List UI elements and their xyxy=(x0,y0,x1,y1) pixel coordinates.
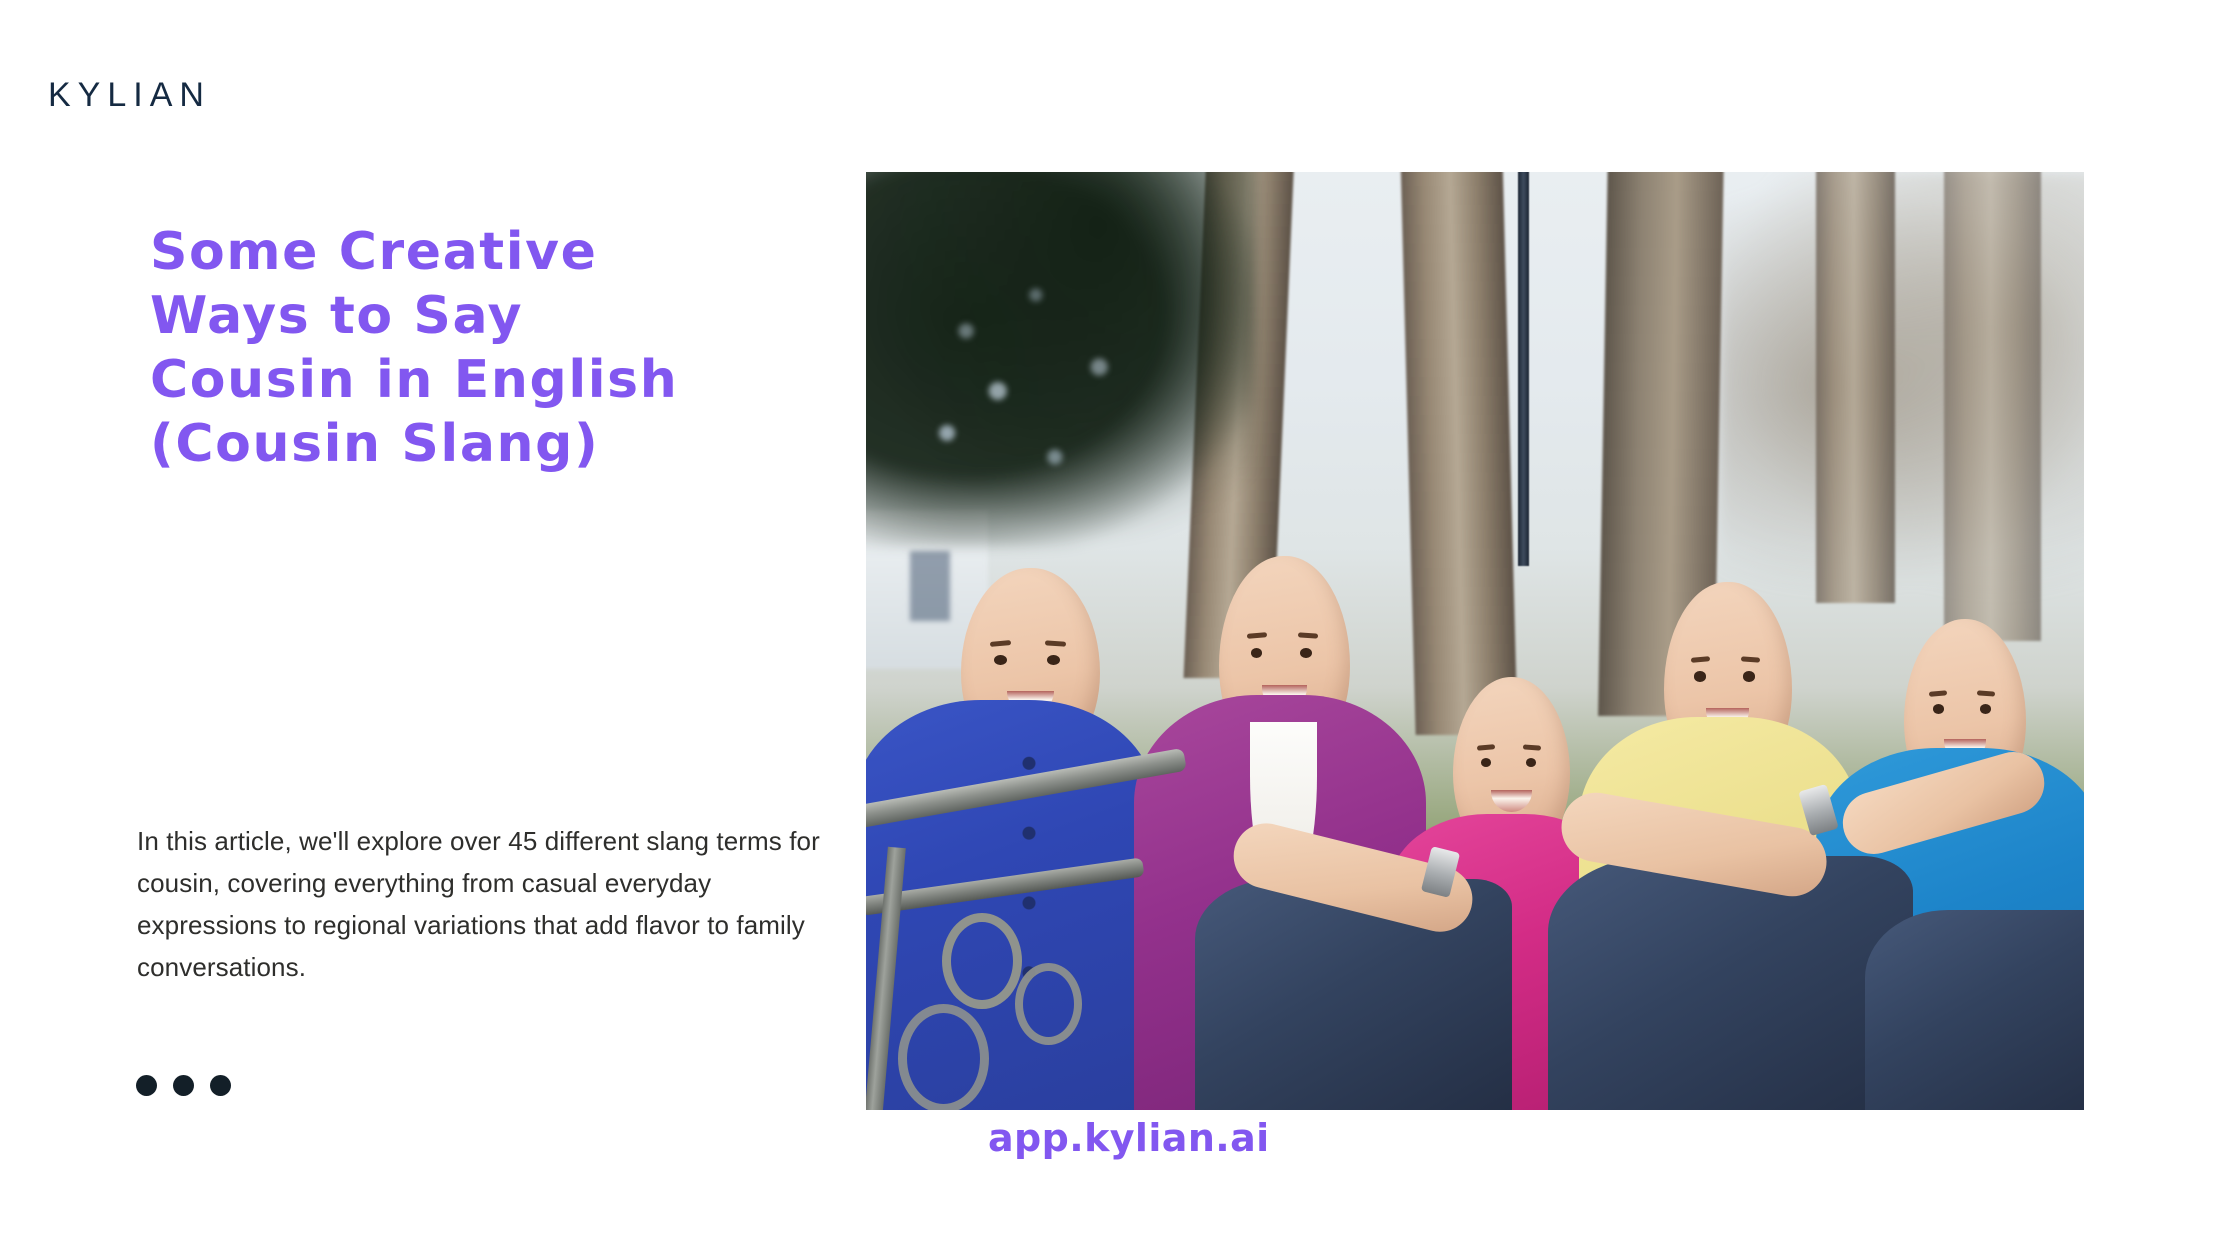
eye-right xyxy=(1980,704,1991,714)
eyebrow-right xyxy=(1523,744,1541,750)
eyebrow-right xyxy=(1740,657,1759,664)
photo-scene xyxy=(866,172,2084,1110)
photo-jeans-2 xyxy=(1548,856,1913,1110)
cover-photo xyxy=(866,172,2084,1110)
eyebrow-right xyxy=(1044,640,1065,647)
eyebrow-left xyxy=(990,640,1011,647)
decoration-dot-3 xyxy=(210,1075,231,1096)
bench-scroll-2 xyxy=(1015,963,1082,1045)
eye-right xyxy=(1743,671,1755,681)
bench-rail-lower xyxy=(866,857,1145,915)
bench-scroll-3 xyxy=(898,1004,989,1110)
slide-canvas: KYLIAN Some Creative Ways to Say Cousin … xyxy=(0,0,2240,1260)
brand-logo[interactable]: KYLIAN xyxy=(48,78,211,112)
eyebrow-right xyxy=(1977,690,1996,696)
eye-right xyxy=(1300,648,1312,658)
left-text-column: Some Creative Ways to Say Cousin in Engl… xyxy=(150,220,840,476)
eyebrow-left xyxy=(1246,632,1266,639)
photo-bench-armrest xyxy=(866,707,1219,1110)
decoration-dot-1 xyxy=(136,1075,157,1096)
bench-rail-top xyxy=(866,748,1187,829)
bench-scroll-1 xyxy=(942,913,1022,1009)
eye-left xyxy=(1251,648,1263,658)
smile xyxy=(1491,790,1531,812)
eye-left xyxy=(1694,671,1706,681)
eye-left xyxy=(994,655,1007,665)
footer-url[interactable]: app.kylian.ai xyxy=(988,1116,1270,1160)
article-description: In this article, we'll explore over 45 d… xyxy=(137,820,837,988)
eyebrow-left xyxy=(1477,744,1495,750)
dots-decoration xyxy=(136,1075,231,1096)
eyebrow-left xyxy=(1690,656,1710,663)
eye-left xyxy=(1481,758,1492,767)
eyebrow-left xyxy=(1929,690,1948,697)
decoration-dot-2 xyxy=(173,1075,194,1096)
eyebrow-right xyxy=(1298,632,1318,639)
eye-right xyxy=(1047,655,1060,665)
eye-left xyxy=(1933,704,1944,714)
page-title: Some Creative Ways to Say Cousin in Engl… xyxy=(150,220,840,476)
photo-jeans-3 xyxy=(1865,910,2084,1110)
eye-right xyxy=(1526,758,1537,767)
